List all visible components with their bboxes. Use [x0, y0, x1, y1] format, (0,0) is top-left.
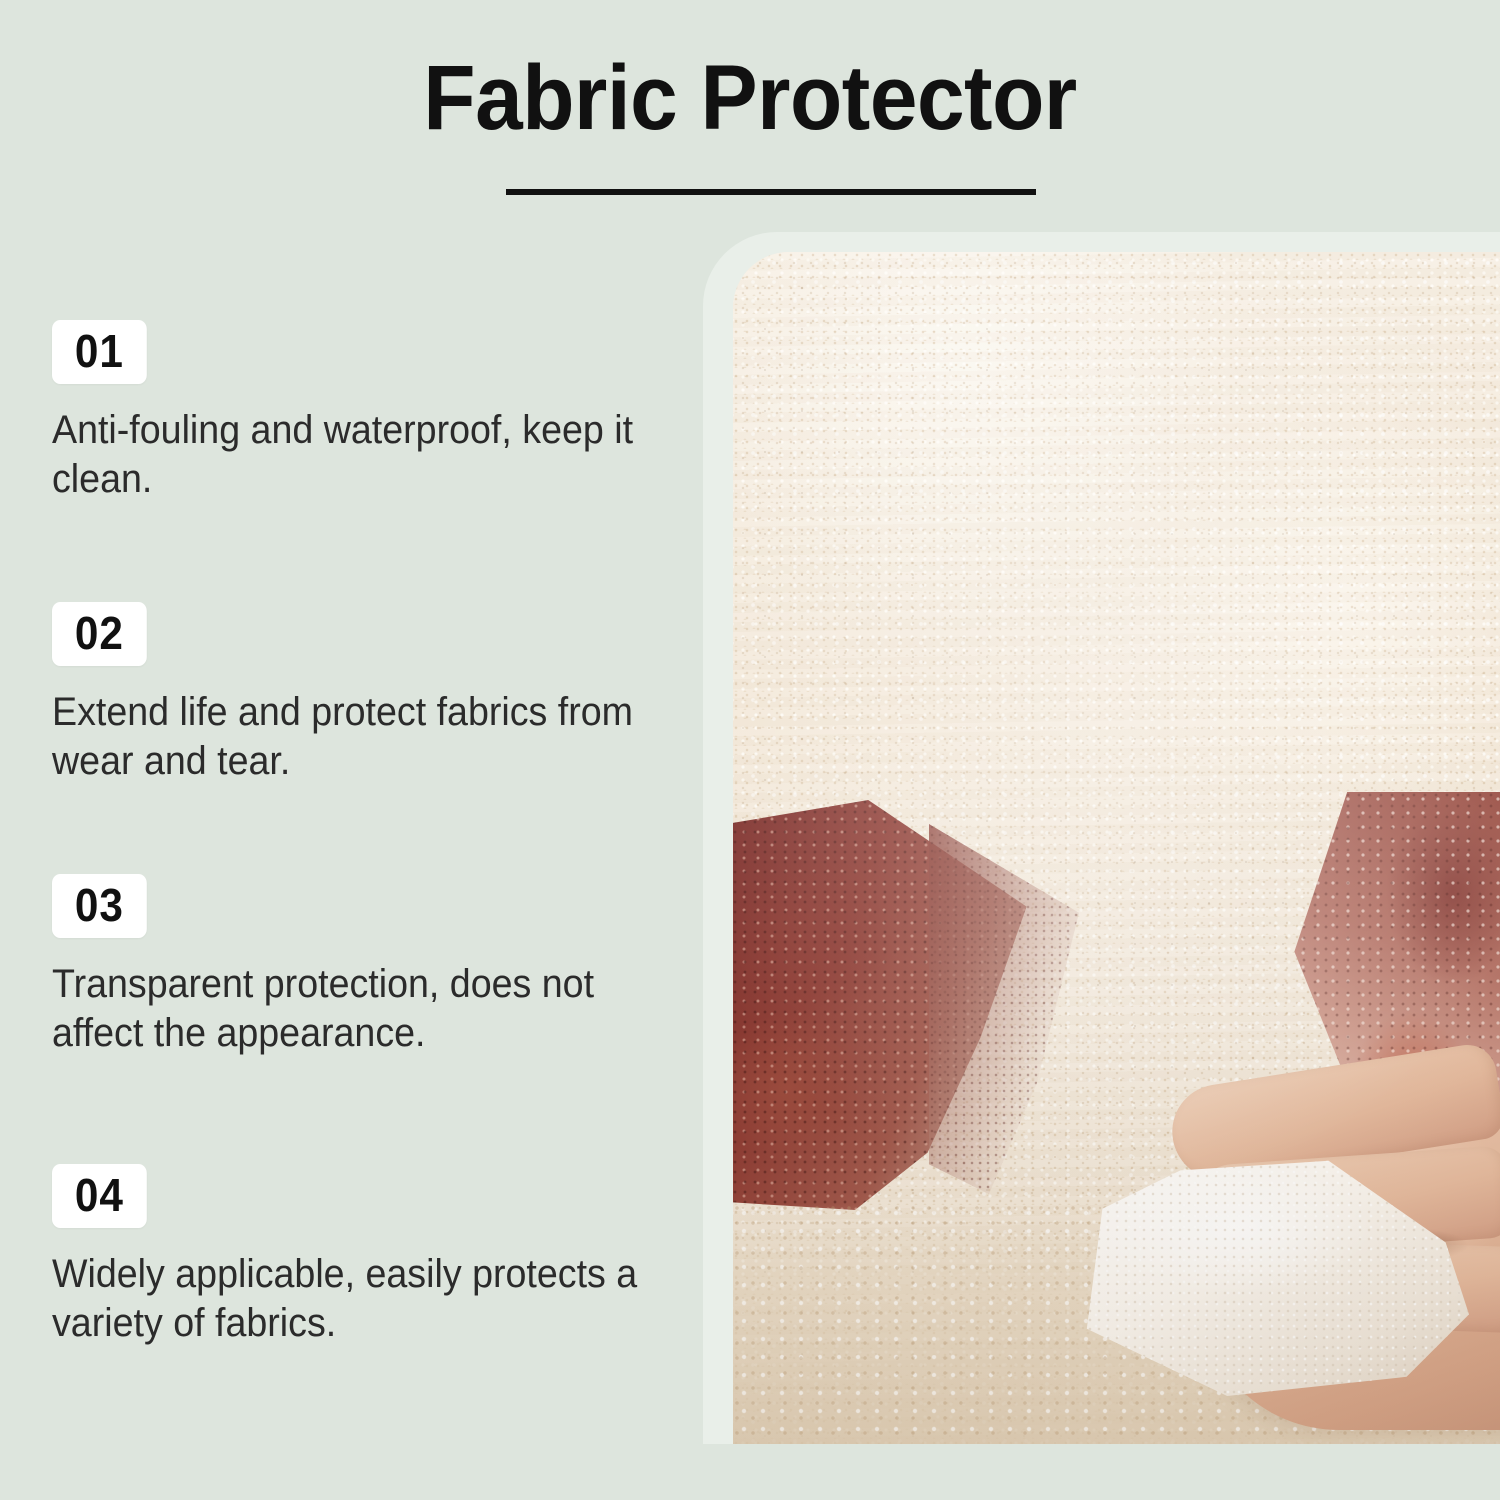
- page-title: Fabric Protector: [53, 52, 1448, 144]
- feature-list: 01 Anti-fouling and waterproof, keep it …: [0, 300, 700, 1500]
- header: Fabric Protector: [0, 0, 1500, 230]
- product-photo-panel: [703, 232, 1500, 1444]
- product-feature-page: Fabric Protector 01 Anti-fouling and wat…: [0, 0, 1500, 1500]
- title-underline-divider: [506, 189, 1036, 195]
- feature-number-badge-04: 04: [52, 1164, 147, 1228]
- product-photo: [733, 252, 1500, 1444]
- feature-description-02: Extend life and protect fabrics from wea…: [52, 688, 654, 786]
- feature-item-01: 01 Anti-fouling and waterproof, keep it …: [52, 320, 692, 504]
- feature-description-03: Transparent protection, does not affect …: [52, 960, 654, 1058]
- feature-item-03: 03 Transparent protection, does not affe…: [52, 874, 692, 1058]
- feature-number-badge-02: 02: [52, 602, 147, 666]
- feature-description-01: Anti-fouling and waterproof, keep it cle…: [52, 406, 654, 504]
- feature-item-02: 02 Extend life and protect fabrics from …: [52, 602, 692, 786]
- feature-number-badge-01: 01: [52, 320, 147, 384]
- feature-number-badge-03: 03: [52, 874, 147, 938]
- feature-description-04: Widely applicable, easily protects a var…: [52, 1250, 654, 1348]
- feature-item-04: 04 Widely applicable, easily protects a …: [52, 1164, 692, 1348]
- photo-lighting-overlay: [733, 252, 1500, 1444]
